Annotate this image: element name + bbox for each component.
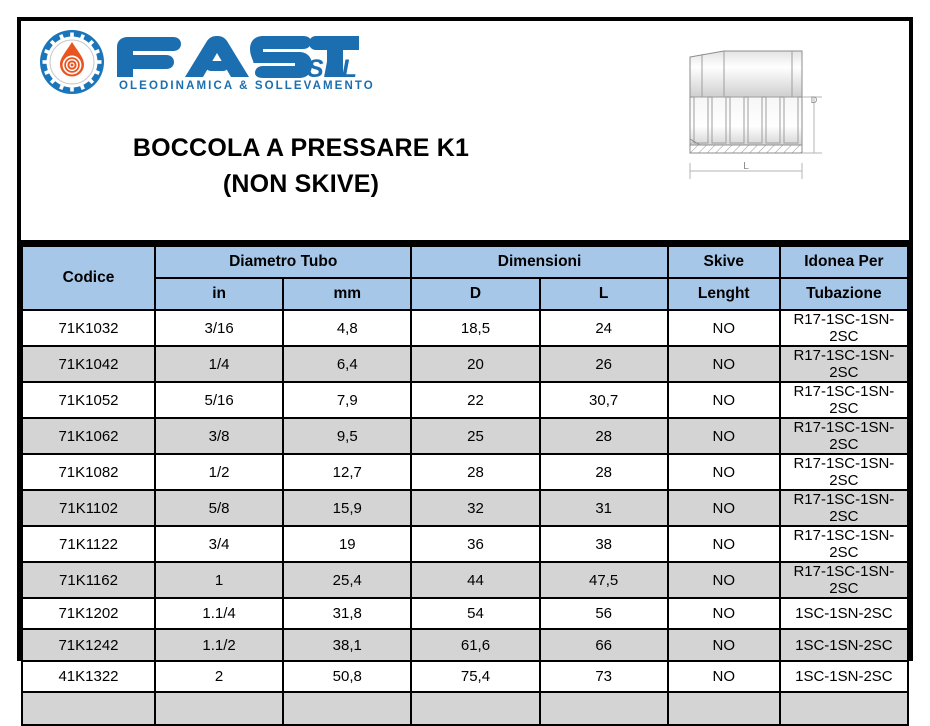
cell-l: 28 [540,418,668,454]
table-row: 71K10821/212,72828NOR17-1SC-1SN-2SC [22,454,908,490]
cell-tubazione [780,692,908,725]
table-row: 71K1162125,44447,5NOR17-1SC-1SN-2SC [22,562,908,598]
cell-lenght: NO [668,562,780,598]
cell-in: 1/2 [155,454,283,490]
table-header-group-row: Codice Diametro Tubo Dimensioni Skive Id… [22,246,908,278]
cell-d [411,692,539,725]
cell-mm: 7,9 [283,382,411,418]
table-row: 41K1322250,875,473NO1SC-1SN-2SC [22,661,908,692]
cell-codice: 71K1202 [22,598,155,629]
cell-l: 30,7 [540,382,668,418]
cell-codice: 41K1322 [22,661,155,692]
header-block: SRL ® OLEODINAMICA & SOLLEVAMENTO BOCCOL… [21,21,909,245]
cell-tubazione: R17-1SC-1SN-2SC [780,562,908,598]
cell-tubazione: R17-1SC-1SN-2SC [780,526,908,562]
cell-d: 61,6 [411,629,539,660]
cell-mm: 6,4 [283,346,411,382]
table-row: 71K11025/815,93231NOR17-1SC-1SN-2SC [22,490,908,526]
cell-in: 3/4 [155,526,283,562]
cell-lenght: NO [668,629,780,660]
column-header-l: L [540,278,668,310]
datasheet-page: SRL ® OLEODINAMICA & SOLLEVAMENTO BOCCOL… [17,17,913,661]
cell-codice: 71K1042 [22,346,155,382]
table-row: 71K10323/164,818,524NOR17-1SC-1SN-2SC [22,310,908,346]
cell-d: 54 [411,598,539,629]
column-header-d: D [411,278,539,310]
cell-d: 36 [411,526,539,562]
registered-mark-icon: ® [339,35,349,50]
table-header: Codice Diametro Tubo Dimensioni Skive Id… [22,246,908,310]
cell-lenght: NO [668,598,780,629]
product-specification-table: Codice Diametro Tubo Dimensioni Skive Id… [21,245,909,726]
cell-lenght: NO [668,490,780,526]
column-header-mm: mm [283,278,411,310]
brand-suffix: SRL [307,55,357,83]
cell-mm: 15,9 [283,490,411,526]
table-header-sub-row: in mm D L Lenght Tubazione [22,278,908,310]
cell-d: 32 [411,490,539,526]
cell-tubazione: 1SC-1SN-2SC [780,661,908,692]
cell-tubazione: R17-1SC-1SN-2SC [780,454,908,490]
brand-wordmark: SRL ® OLEODINAMICA & SOLLEVAMENTO [111,33,375,92]
cell-codice [22,692,155,725]
gear-droplet-icon [39,29,105,95]
cell-codice: 71K1102 [22,490,155,526]
cell-lenght: NO [668,418,780,454]
cell-in: 5/8 [155,490,283,526]
cell-in: 1/4 [155,346,283,382]
company-logo: SRL ® OLEODINAMICA & SOLLEVAMENTO [39,29,375,95]
cell-codice: 71K1062 [22,418,155,454]
cell-in: 2 [155,661,283,692]
column-group-diametro-tubo: Diametro Tubo [155,246,411,278]
cell-in [155,692,283,725]
cell-l: 26 [540,346,668,382]
cell-tubazione: R17-1SC-1SN-2SC [780,310,908,346]
cell-tubazione: R17-1SC-1SN-2SC [780,346,908,382]
column-group-idonea-per: Idonea Per [780,246,908,278]
cell-codice: 71K1122 [22,526,155,562]
cell-mm [283,692,411,725]
cell-mm: 31,8 [283,598,411,629]
cell-in: 5/16 [155,382,283,418]
cell-l: 47,5 [540,562,668,598]
cell-tubazione: 1SC-1SN-2SC [780,629,908,660]
cell-d: 75,4 [411,661,539,692]
table-row: 71K12021.1/431,85456NO1SC-1SN-2SC [22,598,908,629]
cell-lenght: NO [668,526,780,562]
cell-mm: 25,4 [283,562,411,598]
table-row: 71K12421.1/238,161,666NO1SC-1SN-2SC [22,629,908,660]
cell-mm: 12,7 [283,454,411,490]
table-row: 71K11223/4193638NOR17-1SC-1SN-2SC [22,526,908,562]
cell-codice: 71K1082 [22,454,155,490]
cell-d: 28 [411,454,539,490]
cell-in: 1.1/2 [155,629,283,660]
cell-mm: 38,1 [283,629,411,660]
cell-codice: 71K1052 [22,382,155,418]
fast-logotype: SRL ® [111,33,359,83]
cell-l: 66 [540,629,668,660]
title-line-1: BOCCOLA A PRESSARE K1 [21,131,581,167]
cell-tubazione: R17-1SC-1SN-2SC [780,490,908,526]
cell-l: 31 [540,490,668,526]
cell-l: 73 [540,661,668,692]
table-row: 71K10623/89,52528NOR17-1SC-1SN-2SC [22,418,908,454]
cell-d: 22 [411,382,539,418]
cell-codice: 71K1242 [22,629,155,660]
cell-d: 44 [411,562,539,598]
cell-d: 25 [411,418,539,454]
cell-mm: 19 [283,526,411,562]
dimension-label-l: L [743,161,749,172]
cell-lenght: NO [668,454,780,490]
cell-mm: 4,8 [283,310,411,346]
cell-in: 3/16 [155,310,283,346]
cell-l: 38 [540,526,668,562]
table-row-empty [22,692,908,725]
cell-l [540,692,668,725]
dimension-label-d: D [811,95,818,105]
cell-lenght: NO [668,310,780,346]
cell-d: 18,5 [411,310,539,346]
cell-codice: 71K1162 [22,562,155,598]
cell-lenght: NO [668,346,780,382]
cell-in: 1 [155,562,283,598]
column-header-tubazione: Tubazione [780,278,908,310]
cell-d: 20 [411,346,539,382]
table-row: 71K10421/46,42026NOR17-1SC-1SN-2SC [22,346,908,382]
column-group-dimensioni: Dimensioni [411,246,667,278]
table-body: 71K10323/164,818,524NOR17-1SC-1SN-2SC71K… [22,310,908,725]
cell-tubazione: R17-1SC-1SN-2SC [780,418,908,454]
cell-in: 1.1/4 [155,598,283,629]
cell-l: 28 [540,454,668,490]
cell-in: 3/8 [155,418,283,454]
cell-l: 56 [540,598,668,629]
cell-codice: 71K1032 [22,310,155,346]
cell-l: 24 [540,310,668,346]
product-technical-drawing: D L [672,35,887,220]
column-header-in: in [155,278,283,310]
cell-lenght: NO [668,382,780,418]
column-header-lenght: Lenght [668,278,780,310]
cell-mm: 9,5 [283,418,411,454]
cell-mm: 50,8 [283,661,411,692]
cell-lenght: NO [668,661,780,692]
page-title: BOCCOLA A PRESSARE K1 (NON SKIVE) [21,131,581,202]
cell-tubazione: R17-1SC-1SN-2SC [780,382,908,418]
column-header-codice: Codice [22,246,155,310]
cell-lenght [668,692,780,725]
column-group-skive: Skive [668,246,780,278]
cell-tubazione: 1SC-1SN-2SC [780,598,908,629]
title-line-2: (NON SKIVE) [21,167,581,203]
brand-tagline: OLEODINAMICA & SOLLEVAMENTO [119,80,375,92]
table-row: 71K10525/167,92230,7NOR17-1SC-1SN-2SC [22,382,908,418]
